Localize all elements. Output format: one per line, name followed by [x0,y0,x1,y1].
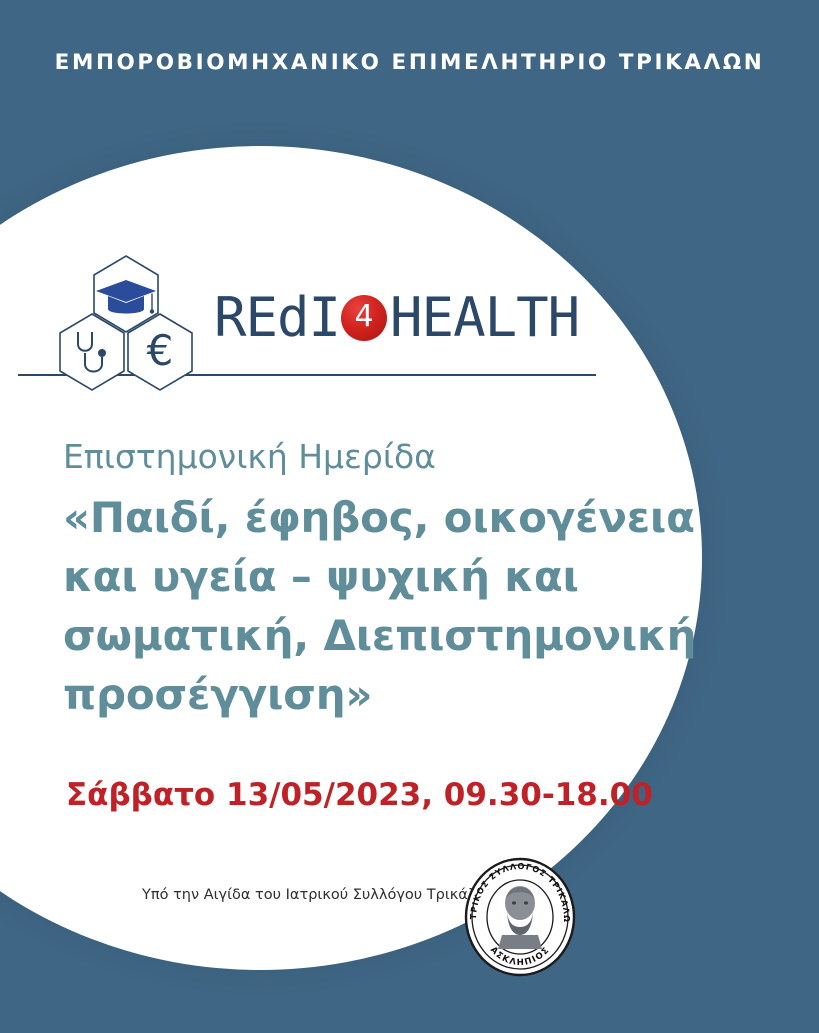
event-title-line: προσέγγιση» [63,665,703,724]
event-poster: ΕΜΠΟΡΟΒΙΟΜΗΧΑΝΙΚΟ ΕΠΙΜΕΛΗΤΗΡΙΟ ΤΡΙΚΑΛΩΝ [0,0,819,1033]
event-title-line: σωματική, Διεπιστημονική [63,606,703,665]
wordmark-four-label: 4 [355,302,374,332]
poster-content: € REdI 4 HEALTH Επιστημονική Ημερίδα «Πα… [0,0,819,1033]
logo-hexagon-cluster: € [40,252,212,392]
wordmark-health: HEALTH [390,291,579,345]
event-date-time: Σάββατο 13/05/2023, 09.30-18.00 [66,777,653,813]
event-auspices: Υπό την Αιγίδα του Ιατρικού Συλλόγου Τρι… [142,887,497,903]
redi4health-logo: € REdI 4 HEALTH [18,252,598,392]
hexagon-icons-svg: € [40,252,212,392]
medical-association-seal: ΙΑΤΡΙΚΟΣ ΣΥΛΛΟΓΟΣ ΤΡΙΚΑΛΩΝ ΑΣΚΛΗΠΙΟΣ [462,857,578,977]
seal-svg: ΙΑΤΡΙΚΟΣ ΣΥΛΛΟΓΟΣ ΤΡΙΚΑΛΩΝ ΑΣΚΛΗΠΙΟΣ [462,857,578,977]
event-title-line: «Παιδί, έφηβος, οικογένεια [63,488,703,547]
event-title: «Παιδί, έφηβος, οικογένεια και υγεία – ψ… [63,488,703,724]
wordmark-redi: REdI [214,291,340,345]
event-title-line: και υγεία – ψυχική και [63,547,703,606]
event-kicker: Επιστημονική Ημερίδα [63,437,436,476]
euro-sign-icon: € [147,326,174,375]
logo-wordmark: REdI 4 HEALTH [214,270,579,366]
wordmark-four-badge: 4 [341,295,387,341]
